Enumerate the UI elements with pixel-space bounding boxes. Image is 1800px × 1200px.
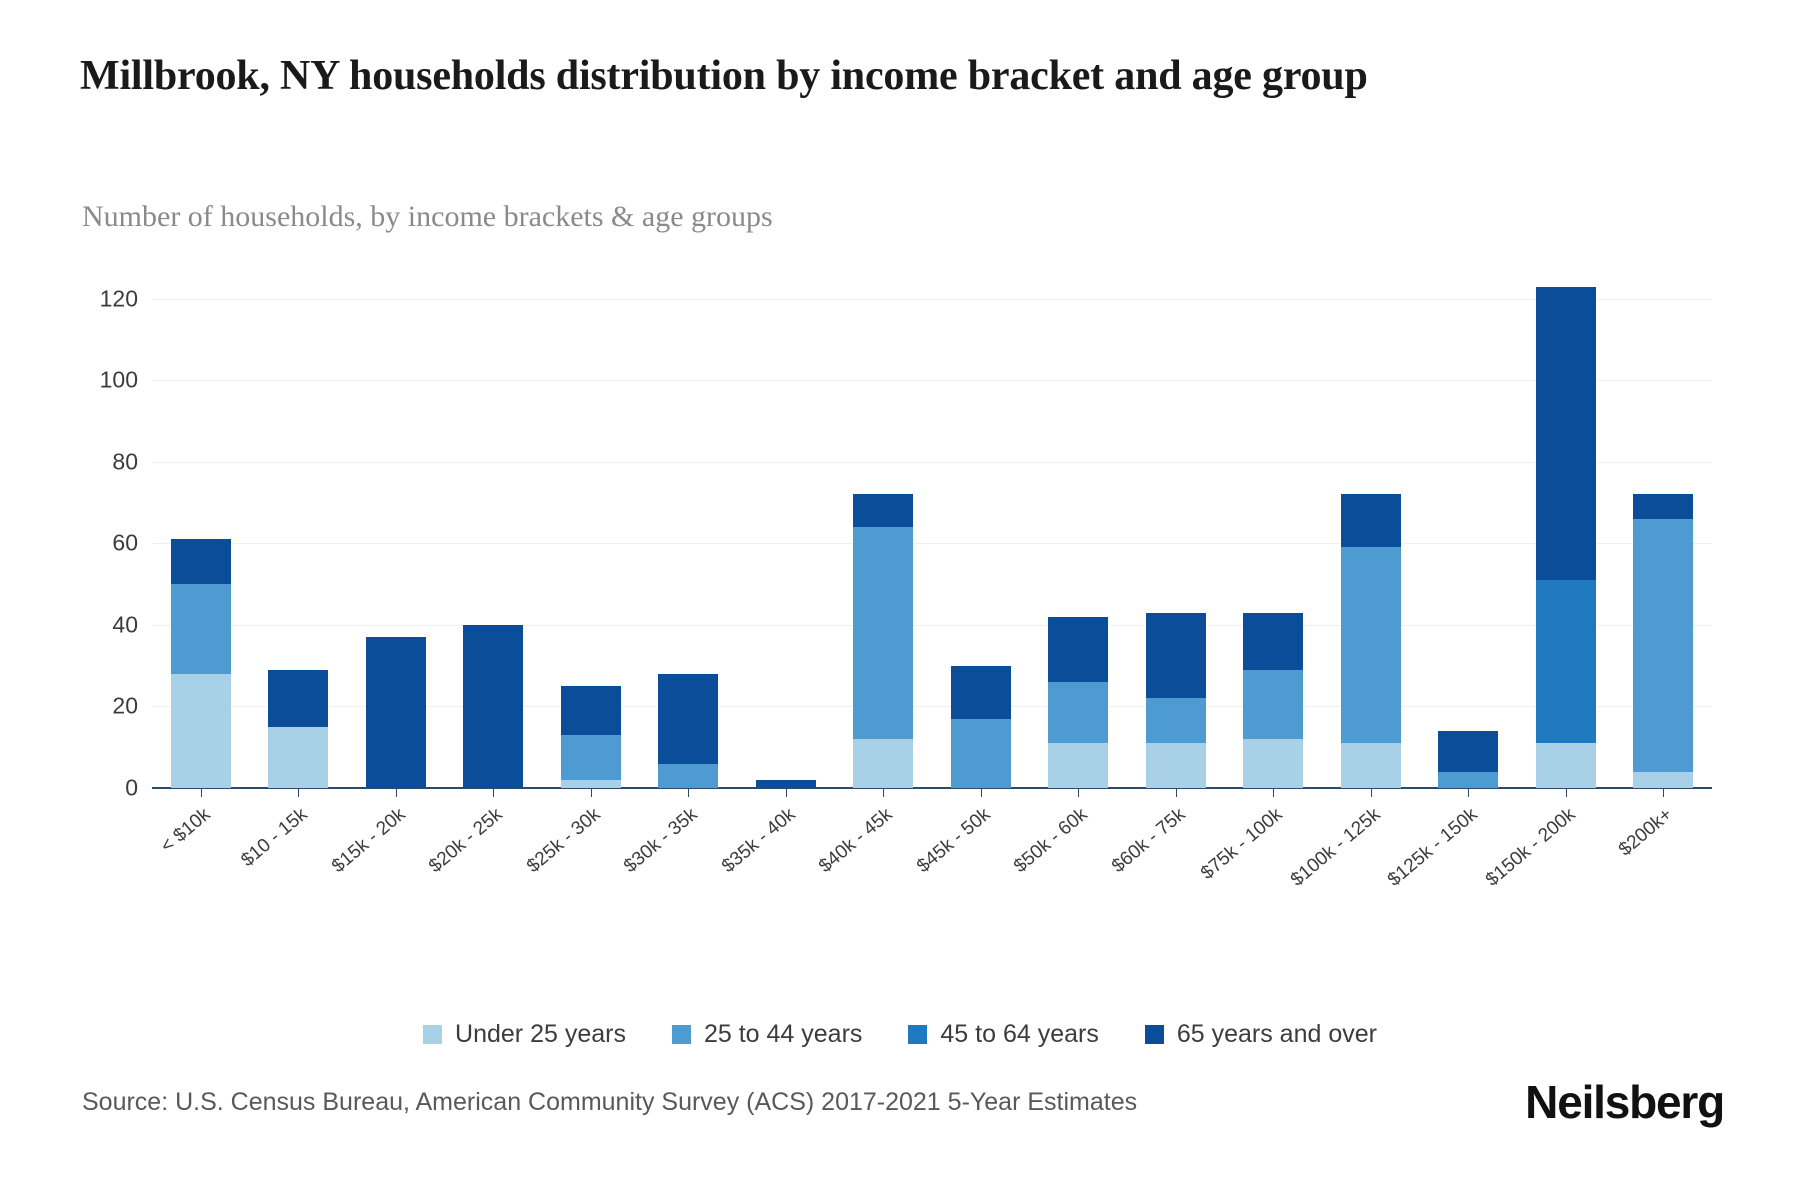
x-tick-slot bbox=[1420, 788, 1518, 797]
legend-swatch-icon bbox=[1145, 1025, 1164, 1044]
x-tick-mark bbox=[688, 788, 689, 797]
y-axis-tick-label: 80 bbox=[112, 448, 138, 475]
x-label-slot: $15k - 20k bbox=[347, 800, 445, 940]
stacked-bar[interactable] bbox=[366, 637, 426, 788]
bar-group[interactable] bbox=[152, 258, 250, 788]
x-label-slot: $40k - 45k bbox=[835, 800, 933, 940]
x-tick-mark bbox=[201, 788, 202, 797]
y-axis-tick-label: 20 bbox=[112, 693, 138, 720]
x-label-slot: $50k - 60k bbox=[1030, 800, 1128, 940]
bar-segment[interactable] bbox=[1438, 772, 1498, 788]
bar-segment[interactable] bbox=[1633, 772, 1693, 788]
bar-group[interactable] bbox=[542, 258, 640, 788]
y-axis-tick-label: 40 bbox=[112, 611, 138, 638]
x-tick-mark bbox=[1566, 788, 1567, 797]
bar-segment[interactable] bbox=[1438, 731, 1498, 772]
x-tick-mark bbox=[1273, 788, 1274, 797]
bar-segment[interactable] bbox=[853, 494, 913, 527]
x-tick-mark bbox=[981, 788, 982, 797]
stacked-bar[interactable] bbox=[756, 780, 816, 788]
bar-segment[interactable] bbox=[658, 674, 718, 764]
bar-segment[interactable] bbox=[561, 735, 621, 780]
x-tick-mark bbox=[883, 788, 884, 797]
bar-segment[interactable] bbox=[1048, 743, 1108, 788]
bar-segment[interactable] bbox=[561, 686, 621, 735]
bar-group[interactable] bbox=[932, 258, 1030, 788]
bar-group[interactable] bbox=[835, 258, 933, 788]
bar-segment[interactable] bbox=[951, 719, 1011, 788]
x-tick-slot bbox=[152, 788, 250, 797]
x-tick-slot bbox=[640, 788, 738, 797]
bar-segment[interactable] bbox=[268, 670, 328, 727]
x-tick-mark bbox=[298, 788, 299, 797]
legend-swatch-icon bbox=[672, 1025, 691, 1044]
x-tick-mark bbox=[591, 788, 592, 797]
x-axis-tick-label: $10 - 15k bbox=[238, 804, 313, 872]
bar-group[interactable] bbox=[1420, 258, 1518, 788]
bar-segment[interactable] bbox=[1536, 580, 1596, 743]
stacked-bar[interactable] bbox=[658, 674, 718, 788]
x-tick-slot bbox=[932, 788, 1030, 797]
bar-group[interactable] bbox=[1030, 258, 1128, 788]
stacked-bar[interactable] bbox=[1341, 494, 1401, 788]
bar-segment[interactable] bbox=[1633, 519, 1693, 772]
x-label-slot: $150k - 200k bbox=[1517, 800, 1615, 940]
x-label-slot: $200k+ bbox=[1615, 800, 1713, 940]
bar-segment[interactable] bbox=[1341, 547, 1401, 743]
x-label-slot: < $10k bbox=[152, 800, 250, 940]
bar-segment[interactable] bbox=[1146, 743, 1206, 788]
bar-segment[interactable] bbox=[1048, 682, 1108, 743]
chart-legend: Under 25 years25 to 44 years45 to 64 yea… bbox=[0, 1020, 1800, 1049]
legend-label: 45 to 64 years bbox=[940, 1020, 1098, 1049]
bar-segment[interactable] bbox=[756, 780, 816, 788]
stacked-bar[interactable] bbox=[463, 625, 523, 788]
bar-segment[interactable] bbox=[1341, 494, 1401, 547]
x-label-slot: $45k - 50k bbox=[932, 800, 1030, 940]
bar-group[interactable] bbox=[250, 258, 348, 788]
bar-segment[interactable] bbox=[1146, 698, 1206, 743]
x-tick-slot bbox=[347, 788, 445, 797]
bar-segment[interactable] bbox=[1243, 739, 1303, 788]
bar-group[interactable] bbox=[1517, 258, 1615, 788]
bar-segment[interactable] bbox=[366, 637, 426, 788]
x-axis-tick-label: $200k+ bbox=[1615, 804, 1677, 861]
legend-label: 25 to 44 years bbox=[704, 1020, 862, 1049]
bar-segment[interactable] bbox=[171, 539, 231, 584]
x-tick-mark bbox=[1468, 788, 1469, 797]
bar-segment[interactable] bbox=[658, 764, 718, 788]
x-label-slot: $20k - 25k bbox=[445, 800, 543, 940]
stacked-bar[interactable] bbox=[1243, 613, 1303, 788]
bar-group[interactable] bbox=[445, 258, 543, 788]
x-tick-mark bbox=[1371, 788, 1372, 797]
bar-segment[interactable] bbox=[171, 584, 231, 674]
bar-group[interactable] bbox=[347, 258, 445, 788]
x-axis-ticks bbox=[152, 788, 1712, 797]
x-tick-mark bbox=[1663, 788, 1664, 797]
x-tick-mark bbox=[1078, 788, 1079, 797]
x-label-slot: $10 - 15k bbox=[250, 800, 348, 940]
x-tick-slot bbox=[542, 788, 640, 797]
bar-group[interactable] bbox=[737, 258, 835, 788]
bar-segment[interactable] bbox=[1243, 613, 1303, 670]
bar-segment[interactable] bbox=[1536, 743, 1596, 788]
x-tick-mark bbox=[493, 788, 494, 797]
stacked-bar[interactable] bbox=[268, 670, 328, 788]
stacked-bar[interactable] bbox=[1438, 731, 1498, 788]
legend-label: 65 years and over bbox=[1177, 1020, 1377, 1049]
x-label-slot: $30k - 35k bbox=[640, 800, 738, 940]
bar-segment[interactable] bbox=[1536, 287, 1596, 581]
y-axis-tick-label: 60 bbox=[112, 530, 138, 557]
bar-segment[interactable] bbox=[463, 625, 523, 788]
x-axis-tick-label: < $10k bbox=[157, 804, 215, 858]
bar-segment[interactable] bbox=[171, 674, 231, 788]
x-axis-labels: < $10k$10 - 15k$15k - 20k$20k - 25k$25k … bbox=[152, 800, 1712, 940]
bar-group[interactable] bbox=[1225, 258, 1323, 788]
bar-group[interactable] bbox=[1127, 258, 1225, 788]
chart-page: Millbrook, NY households distribution by… bbox=[0, 0, 1800, 1200]
stacked-bar[interactable] bbox=[171, 539, 231, 788]
bar-segment[interactable] bbox=[268, 727, 328, 788]
legend-item[interactable]: 65 years and over bbox=[1145, 1020, 1377, 1049]
bar-segment[interactable] bbox=[951, 666, 1011, 719]
y-axis-tick-label: 120 bbox=[100, 285, 138, 312]
bar-series-container bbox=[152, 258, 1712, 788]
x-tick-mark bbox=[1176, 788, 1177, 797]
x-tick-slot bbox=[250, 788, 348, 797]
x-tick-slot bbox=[737, 788, 835, 797]
bar-segment[interactable] bbox=[1146, 613, 1206, 699]
x-tick-mark bbox=[786, 788, 787, 797]
x-tick-slot bbox=[1615, 788, 1713, 797]
x-label-slot: $25k - 30k bbox=[542, 800, 640, 940]
legend-item[interactable]: 45 to 64 years bbox=[908, 1020, 1098, 1049]
bar-segment[interactable] bbox=[1633, 494, 1693, 518]
x-tick-slot bbox=[835, 788, 933, 797]
bar-segment[interactable] bbox=[1048, 617, 1108, 682]
legend-swatch-icon bbox=[423, 1025, 442, 1044]
stacked-bar[interactable] bbox=[1536, 287, 1596, 788]
stacked-bar[interactable] bbox=[853, 494, 913, 788]
y-axis-tick-label: 100 bbox=[100, 367, 138, 394]
bar-segment[interactable] bbox=[1341, 743, 1401, 788]
x-tick-slot bbox=[1517, 788, 1615, 797]
stacked-bar[interactable] bbox=[1048, 617, 1108, 788]
x-label-slot: $35k - 40k bbox=[737, 800, 835, 940]
bar-group[interactable] bbox=[1322, 258, 1420, 788]
stacked-bar[interactable] bbox=[1633, 494, 1693, 788]
x-tick-mark bbox=[396, 788, 397, 797]
x-tick-slot bbox=[1322, 788, 1420, 797]
stacked-bar[interactable] bbox=[561, 686, 621, 788]
bar-segment[interactable] bbox=[853, 527, 913, 739]
legend-label: Under 25 years bbox=[455, 1020, 626, 1049]
y-axis: 020406080100120 bbox=[60, 258, 138, 788]
stacked-bar[interactable] bbox=[951, 666, 1011, 788]
x-tick-slot bbox=[1030, 788, 1128, 797]
source-note: Source: U.S. Census Bureau, American Com… bbox=[82, 1088, 1137, 1117]
legend-item[interactable]: Under 25 years bbox=[423, 1020, 626, 1049]
bar-group[interactable] bbox=[640, 258, 738, 788]
brand-logo: Neilsberg bbox=[1525, 1075, 1724, 1129]
bar-segment[interactable] bbox=[561, 780, 621, 788]
bar-segment[interactable] bbox=[853, 739, 913, 788]
x-tick-slot bbox=[445, 788, 543, 797]
bar-segment[interactable] bbox=[1243, 670, 1303, 739]
x-tick-slot bbox=[1225, 788, 1323, 797]
bar-group[interactable] bbox=[1615, 258, 1713, 788]
y-axis-tick-label: 0 bbox=[125, 775, 138, 802]
legend-swatch-icon bbox=[908, 1025, 927, 1044]
legend-item[interactable]: 25 to 44 years bbox=[672, 1020, 862, 1049]
x-tick-slot bbox=[1127, 788, 1225, 797]
stacked-bar[interactable] bbox=[1146, 613, 1206, 788]
